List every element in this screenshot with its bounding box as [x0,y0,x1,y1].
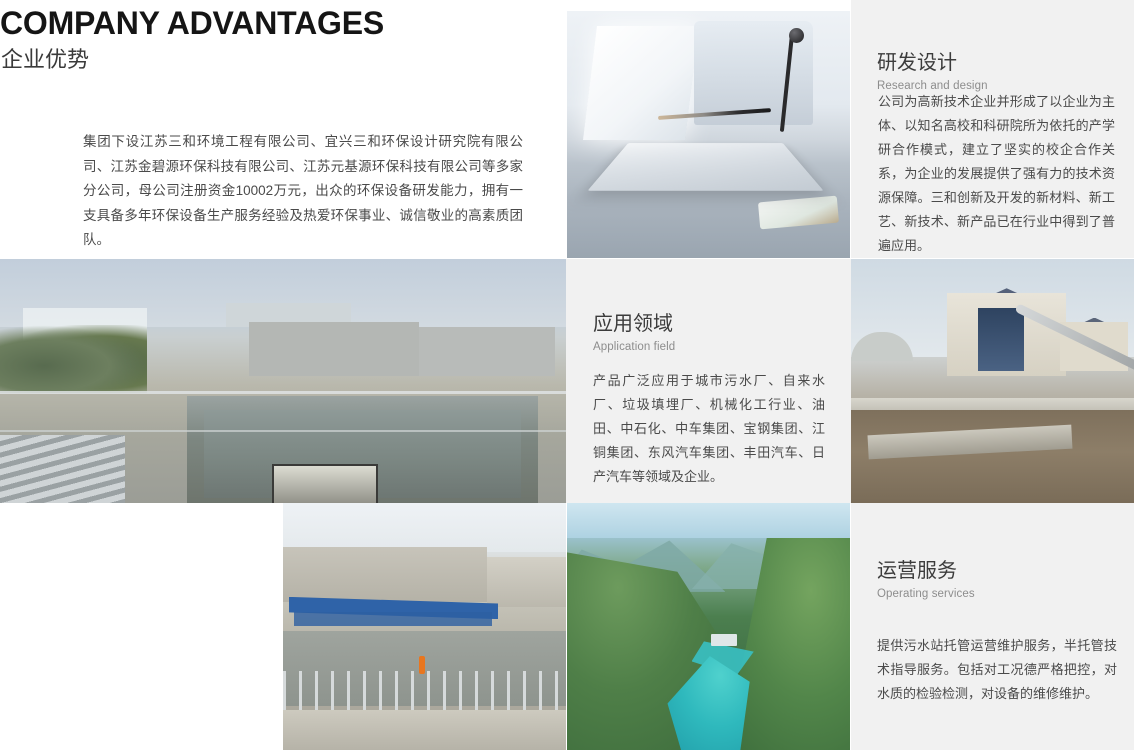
desk-laptop-photo: 办公桌笔记本电脑 [567,11,850,258]
feature-card-research-and-design: 研发设计 Research and design 公司为高新技术企业并形成了以企… [851,0,1134,258]
page-title-english: COMPANY ADVANTAGES [0,4,384,42]
card-body-text: 产品广泛应用于城市污水厂、自来水厂、垃圾填埋厂、机械化工行业、油田、中石化、中车… [593,369,825,489]
sky-shape [567,503,850,538]
card-title-english: Operating services [877,586,975,602]
intro-block: COMPANY ADVANTAGES 企业优势 集团下设江苏三和环境工程有限公司… [0,0,566,258]
company-advantages-page: COMPANY ADVANTAGES 企业优势 集团下设江苏三和环境工程有限公司… [0,0,1134,750]
handrail-shape [0,430,566,432]
blue-bridge-shape [294,612,492,627]
card-title-chinese: 研发设计 [877,50,988,76]
treatment-basin-photo: 污水处理池与栈桥 [283,503,566,750]
intro-paragraph: 集团下设江苏三和环境工程有限公司、宜兴三和环保设计研究院有限公司、江苏金碧源环保… [83,130,523,253]
plant-wall-shape [487,557,566,606]
card-heading-group: 运营服务 Operating services [877,558,975,602]
photo-backdrop-bottom [0,503,283,750]
control-cabinet-shape [272,464,378,503]
feature-card-operating-services: 运营服务 Operating services 提供污水站托管运营维护服务，半托… [851,503,1134,750]
wastewater-plant-photo: 污水处理厂全景 [0,259,566,503]
phone-shape [758,195,839,229]
plant-structure-shape [419,327,555,376]
card-title-chinese: 应用领域 [593,311,675,337]
card-body-text: 提供污水站托管运营维护服务，半托管技术指导服务。包括对工况德严格把控，对水质的检… [877,634,1117,706]
trees-shape [0,325,147,393]
handrail-shape [0,391,566,394]
stairs-shape [0,435,125,503]
card-heading-group: 研发设计 Research and design [877,50,988,94]
sky-shape [283,503,566,552]
card-body-text: 公司为高新技术企业并形成了以企业为主体、以知名高校和科研院所为依托的产学研合作模… [878,90,1115,258]
feature-card-application-field: 应用领域 Application field 产品广泛应用于城市污水厂、自来水厂… [566,259,851,503]
card-heading-group: 应用领域 Application field [593,311,675,355]
concrete-deck-shape [283,710,566,750]
desk-laptop-photo-alt: 办公桌笔记本电脑 [567,11,568,12]
card-title-english: Application field [593,339,675,355]
card-title-chinese: 运营服务 [877,558,975,584]
plant-wall-shape [283,547,487,601]
page-title-chinese: 企业优势 [1,45,89,75]
reservoir-landscape-photo: 山林水库景观 [567,503,850,750]
plant-buildings-photo: 厂区办公楼与沉淀池 [851,259,1134,503]
glass-facade-shape [978,308,1023,371]
lakeside-building-shape [711,634,736,646]
plant-structure-shape [249,322,419,376]
